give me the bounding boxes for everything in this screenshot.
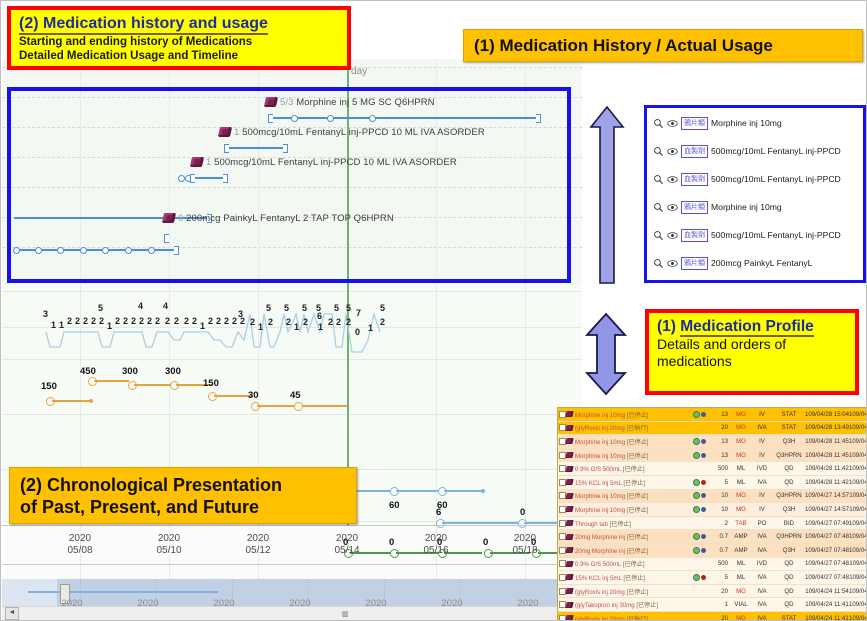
gantt-bar[interactable] [192, 177, 225, 179]
table-row[interactable]: 20mg Morphine inj [已停止]0.7AMPIVAQ3HPRN10… [558, 530, 866, 544]
end-datetime-cell: 109/04/29 14:56 [849, 533, 867, 540]
med-status-zh: [已停止] [623, 480, 645, 487]
qty-cell: 20 [709, 424, 731, 431]
annotation-heading: (1) Medication History / Actual Usage [474, 36, 773, 56]
annotation-line1: (2) Chronological Presentation [20, 474, 356, 496]
unit-cell: MG [731, 588, 751, 595]
gantt-node[interactable] [57, 247, 64, 254]
grid-line [2, 291, 582, 292]
qty-cell: 500 [709, 560, 731, 567]
grid-line [2, 414, 582, 415]
med-name-cell: Morphine inj 10mg [已停止] [575, 437, 693, 446]
scroll-left-button[interactable]: ◄ [5, 607, 19, 620]
med-name-cell: (glyRoxis inj 20mg [已執行] [575, 423, 693, 432]
annotation-medication-history: (2) Medication history and usage Startin… [7, 6, 351, 70]
pill-glyph [565, 520, 573, 526]
eye-icon[interactable] [667, 118, 678, 129]
green-status-dot [693, 533, 700, 540]
medication-list-panel[interactable]: 鴉片類 Morphine inj 10mg 血製劑 500mcg/10mL Fe… [644, 105, 866, 283]
gantt-bar-end-cap [283, 144, 288, 153]
checkbox[interactable] [559, 615, 566, 621]
pill-glyph [565, 615, 573, 621]
qty-cell: 20 [709, 588, 731, 595]
med-status-zh: [已停止] [626, 589, 648, 596]
red-status-dot [701, 480, 706, 485]
unit-cell: MG [731, 492, 751, 499]
series-value: 60 [389, 500, 400, 511]
route-cell: IVA [751, 533, 773, 540]
start-datetime-cell: 109/04/27 07:48 [805, 560, 849, 567]
pill-glyph [565, 602, 573, 608]
search-icon[interactable] [653, 230, 664, 241]
date-tick-year: 2020 [50, 533, 110, 545]
med-name: 500mcg/10mL FentanyL inj-PPCD [711, 174, 841, 184]
start-datetime-cell: 109/04/24 11:54 [805, 588, 849, 595]
freq-cell: Q3H [773, 547, 805, 554]
pill-glyph [565, 506, 573, 512]
route-cell: IVA [751, 479, 773, 486]
range-preview-line [28, 591, 218, 593]
freq-cell: STAT [773, 411, 805, 418]
qty-cell: 20 [709, 615, 731, 621]
status-dots [693, 411, 709, 418]
gantt-node[interactable] [148, 247, 155, 254]
qty-cell: 0.7 [709, 547, 731, 554]
qty-cell: 5 [709, 479, 731, 486]
end-datetime-cell: 109/04/28 14:15 [849, 424, 867, 431]
gantt-label: 1 500mcg/10mL FentanyL inj-PPCD 10 ML IV… [206, 157, 457, 168]
gantt-bar-start-cap [164, 234, 169, 243]
freq-cell: Q3HPRN [773, 452, 805, 459]
route-cell: IV [751, 506, 773, 513]
search-icon[interactable] [653, 146, 664, 157]
start-datetime-cell: 109/04/28 11:42 [805, 479, 849, 486]
med-name-cell: (glyRoxis inj 20mg [已停止] [575, 587, 693, 596]
gantt-node[interactable] [327, 115, 334, 122]
gantt-node[interactable] [291, 115, 298, 122]
med-list-item[interactable]: 鴉片類 Morphine inj 10mg [653, 196, 782, 218]
series-bar [396, 490, 438, 492]
unit-cell: MG [731, 452, 751, 459]
end-datetime-cell: 109/04/27 14:57 [849, 547, 867, 554]
qty-cell: 5 [709, 574, 731, 581]
date-tick-day: 05/16 [406, 545, 466, 557]
table-row[interactable]: Morphine inj 10mg [已停止]13MGIVQ3HPRN109/0… [558, 449, 866, 463]
table-row[interactable]: 15% KCL inj 5mL [已停止]5MLIVAQD109/04/28 1… [558, 476, 866, 490]
med-name-cell: Morphine inj 10mg [已停止] [575, 491, 693, 500]
route-cell: IV [751, 438, 773, 445]
annotation-line1: Starting and ending history of Medicatio… [19, 35, 339, 49]
annotation-line2: Detailed Medication Usage and Timeline [19, 49, 339, 63]
medication-pill-icon [218, 127, 232, 137]
date-tick-year: 2020 [495, 533, 555, 545]
med-name-cell: Morphine inj 10mg [已停止] [575, 505, 693, 514]
med-list-item[interactable]: 鴉片類 Morphine inj 10mg [653, 112, 782, 134]
pill-glyph [565, 452, 573, 458]
gantt-node[interactable] [80, 247, 87, 254]
medication-pill-icon [566, 561, 575, 567]
route-cell: IV [751, 411, 773, 418]
med-status-zh: [已停止] [623, 561, 645, 568]
med-status-zh: [已停止] [627, 439, 649, 446]
med-status-zh: [已執行] [626, 425, 648, 432]
search-icon[interactable] [653, 174, 664, 185]
start-datetime-cell: 109/04/27 07:48 [805, 547, 849, 554]
blue-status-dot [701, 493, 706, 498]
today-label: day [351, 66, 367, 77]
med-name: 20mg Morphine inj [575, 534, 627, 541]
eye-icon[interactable] [667, 202, 678, 213]
route-cell: IVD [751, 465, 773, 472]
annotation-actual-usage: (1) Medication History / Actual Usage [463, 29, 863, 62]
medication-pill-icon [566, 588, 575, 594]
end-datetime-cell: 109/04/29 16:54 [849, 520, 867, 527]
series-value: 0 [520, 507, 525, 518]
date-tick-day: 05/18 [495, 545, 555, 557]
gantt-node[interactable] [13, 247, 20, 254]
row-checkbox[interactable] [558, 615, 566, 621]
arrow-up-down-icon [583, 311, 629, 397]
med-status-zh: [已停止] [627, 548, 649, 555]
checkbox[interactable] [559, 411, 566, 418]
medication-pill-icon [566, 438, 575, 444]
annotation-line1: Details and orders of [657, 336, 847, 353]
medication-pill-icon [566, 479, 575, 485]
med-name: Morphine inj 10mg [711, 118, 782, 128]
dose-bar [214, 395, 252, 397]
blue-status-dot [701, 453, 706, 458]
med-list-item[interactable]: 血製劑 500mcg/10mL FentanyL inj-PPCD [653, 224, 841, 246]
medication-pill-icon [566, 615, 575, 621]
unit-cell: ML [731, 560, 751, 567]
med-name-cell: Morphine inj 10mg [已停止] [575, 410, 693, 419]
medication-pill-icon [566, 574, 575, 580]
freq-cell: QD [773, 601, 805, 608]
table-row[interactable]: Morphine inj 10mg [已停止]13MGIVSTAT109/04/… [558, 408, 866, 422]
search-icon[interactable] [653, 258, 664, 269]
gantt-bar[interactable] [270, 117, 540, 119]
date-tick-year: 2020 [228, 533, 288, 545]
pill-glyph [565, 561, 573, 567]
search-icon[interactable] [653, 118, 664, 129]
gantt-bar[interactable] [228, 147, 285, 149]
med-name-cell: (glyTakopron inj 30mg [已停止] [575, 600, 693, 609]
gantt-label: 5/3 Morphine inj 5 MG SC Q6HPRN [280, 97, 435, 108]
unit-cell: MG [731, 424, 751, 431]
freq-cell: QD [773, 574, 805, 581]
unit-cell: AMP [731, 533, 751, 540]
end-datetime-cell: 109/04/24 18:00 [849, 588, 867, 595]
gantt-bar-end-cap [536, 114, 541, 123]
gantt-label-text: Morphine inj 5 MG SC Q6HPRN [296, 97, 434, 108]
med-category-badge: 血製劑 [681, 145, 708, 158]
start-datetime-cell: 109/04/28 11:42 [805, 465, 849, 472]
med-name-cell: 15% KCL inj 5mL [已停止] [575, 573, 693, 582]
gantt-node[interactable] [125, 247, 132, 254]
annotation-heading-text: Medication Profile [680, 318, 814, 337]
checkbox[interactable] [559, 547, 566, 554]
route-cell: IVA [751, 424, 773, 431]
status-dots [693, 492, 709, 499]
medication-pill-icon [566, 452, 575, 458]
freq-cell: Q3H [773, 438, 805, 445]
unit-cell: ML [731, 465, 751, 472]
med-status-zh: [已停止] [627, 507, 649, 514]
start-datetime-cell: 109/04/28 11:45 [805, 452, 849, 459]
date-axis: 2020 05/08 2020 05/10 2020 05/12 2020 05… [2, 525, 582, 565]
start-datetime-cell: 109/04/27 07:48 [805, 533, 849, 540]
eye-icon[interactable] [667, 230, 678, 241]
gantt-label-prefix: 1 [234, 127, 239, 138]
gantt-bar-end-cap [174, 246, 179, 255]
qty-cell: 13 [709, 452, 731, 459]
date-tick: 2020 05/10 [139, 533, 199, 557]
unit-cell: VIAL [731, 601, 751, 608]
gantt-node[interactable] [102, 247, 109, 254]
dose-value: 45 [290, 390, 301, 401]
grid-line [2, 247, 582, 248]
medication-pill-icon [566, 534, 575, 540]
med-name: Morphine inj 10mg [575, 439, 627, 446]
end-datetime-cell: 109/04/28 12:31 [849, 438, 867, 445]
med-status-zh: [已停止] [623, 466, 645, 473]
table-row[interactable]: Through tab [已停止]2TABPOBID109/04/27 07:4… [558, 517, 866, 531]
status-dots [693, 547, 709, 554]
pain-score-sparkline [2, 302, 582, 372]
medication-pill-icon [162, 213, 176, 223]
date-tick: 2020 05/12 [228, 533, 288, 557]
gantt-label-prefix: 5/3 [280, 97, 294, 108]
unit-cell: TAB [731, 520, 751, 527]
checkbox[interactable] [559, 438, 566, 445]
blue-status-dot [701, 507, 706, 512]
table-row[interactable]: 15% KCL inj 5mL [已停止]5MLIVAQD109/04/27 0… [558, 571, 866, 585]
gantt-node[interactable] [369, 115, 376, 122]
med-name: 15% KCL inj 5mL [575, 480, 623, 487]
eye-icon[interactable] [667, 146, 678, 157]
medication-pill-icon [264, 97, 278, 107]
med-name: 200mcg PainkyL FentanyL [711, 258, 812, 268]
pill-glyph [565, 411, 573, 417]
med-name-cell: 0.9% G/S 500mL [已停止] [575, 559, 693, 568]
gantt-bar-start-cap [224, 144, 229, 153]
start-datetime-cell: 109/04/28 15:04 [805, 411, 849, 418]
date-tick: 2020 05/18 [495, 533, 555, 557]
table-row[interactable]: (glyRoxis inj 20mg [已停止]20MGIVAQD109/04/… [558, 585, 866, 599]
medication-pill-icon [566, 425, 575, 431]
medication-pill-icon [566, 466, 575, 472]
med-status-zh: [已停止] [627, 453, 649, 460]
dose-value: 150 [203, 378, 219, 389]
dose-bar [134, 384, 172, 386]
scrollbar-track[interactable] [2, 606, 582, 621]
med-name-cell: (glyRoxis inj 20mg [已執行] [575, 614, 693, 621]
med-name: (glyRoxis inj 20mg [575, 616, 626, 621]
med-status-zh: [已停止] [623, 575, 645, 582]
medication-detail-table[interactable]: Morphine inj 10mg [已停止]13MGIVSTAT109/04/… [557, 407, 867, 621]
med-list-item[interactable]: 血製劑 500mcg/10mL FentanyL inj-PPCD [653, 140, 841, 162]
blue-status-dot [701, 548, 706, 553]
date-tick-day: 05/14 [317, 545, 377, 557]
green-status-dot [693, 547, 700, 554]
qty-cell: 13 [709, 438, 731, 445]
freq-cell: STAT [773, 615, 805, 621]
qty-cell: 1 [709, 601, 731, 608]
start-datetime-cell: 109/04/27 07:49 [805, 520, 849, 527]
med-name-cell: 20mg Morphine inj [已停止] [575, 546, 693, 555]
end-datetime-cell: 109/04/28 11:45 [849, 506, 867, 513]
eye-icon[interactable] [667, 258, 678, 269]
table-row[interactable]: 20mg Morphine inj [已停止]0.7AMPIVAQ3H109/0… [558, 544, 866, 558]
app-window: day 5/3 Morphine inj 5 MG SC Q6HPRN 1 50… [0, 0, 867, 621]
med-name: Through tab [575, 521, 610, 528]
gantt-node[interactable] [35, 247, 42, 254]
green-status-dot [693, 452, 700, 459]
route-cell: PO [751, 520, 773, 527]
table-row[interactable]: 0.9% G/S 500mL [已停止]500MLIVDQD109/04/28 … [558, 462, 866, 476]
dose-value: 450 [80, 366, 96, 377]
annotation-heading: (2) Medication history and usage [19, 14, 268, 35]
search-icon[interactable] [653, 202, 664, 213]
pill-glyph [565, 547, 573, 553]
status-dots [693, 506, 709, 513]
gantt-bar-start-cap [190, 174, 195, 183]
gantt-label-prefix: 0 [178, 213, 183, 224]
green-status-dot [693, 411, 700, 418]
dose-node[interactable] [294, 402, 303, 411]
end-datetime-cell: 109/04/28 11:42 [849, 574, 867, 581]
table-row[interactable]: 0.9% G/S 500mL [已停止]500MLIVDQD109/04/27 … [558, 558, 866, 572]
freq-cell: Q3HPRN [773, 533, 805, 540]
date-tick-year: 2020 [139, 533, 199, 545]
table-row[interactable]: Morphine inj 10mg [已停止]13MGIVQ3H109/04/2… [558, 435, 866, 449]
qty-cell: 10 [709, 492, 731, 499]
gantt-label-text: 200mcg PainkyL FentanyL 2 TAP TOP Q6HPRN [186, 213, 394, 224]
med-list-item[interactable]: 血製劑 500mcg/10mL FentanyL inj-PPCD [653, 168, 841, 190]
blue-status-dot [701, 534, 706, 539]
unit-cell: ML [731, 574, 751, 581]
dose-endpoint [89, 399, 93, 403]
start-datetime-cell: 109/04/24 11:41 [805, 601, 849, 608]
medication-pill-icon [566, 520, 575, 526]
green-status-dot [693, 479, 700, 486]
start-datetime-cell: 109/04/24 11:41 [805, 615, 849, 621]
route-cell: IVD [751, 560, 773, 567]
gantt-label: 0 200mcg PainkyL FentanyL 2 TAP TOP Q6HP… [178, 213, 394, 224]
route-cell: IV [751, 492, 773, 499]
med-list-item[interactable]: 鴉片類 200mcg PainkyL FentanyL [653, 252, 812, 274]
med-name: 0.9% G/S 500mL [575, 561, 623, 568]
end-datetime-cell: 109/04/30 09:20 [849, 479, 867, 486]
med-category-badge: 鴉片類 [681, 117, 708, 130]
med-status-zh: [已停止] [627, 412, 649, 419]
unit-cell: MG [731, 411, 751, 418]
checkbox[interactable] [559, 479, 566, 486]
series-bar [444, 490, 482, 492]
green-status-dot [693, 492, 700, 499]
gantt-label-prefix: 1 [206, 157, 211, 168]
route-cell: IVA [751, 615, 773, 621]
route-cell: IVA [751, 601, 773, 608]
eye-icon[interactable] [667, 174, 678, 185]
green-status-dot [693, 506, 700, 513]
freq-cell: QD [773, 588, 805, 595]
med-status-zh: [已停止] [636, 602, 658, 609]
end-datetime-cell: 109/04/28 11:45 [849, 492, 867, 499]
status-dots [693, 479, 709, 486]
date-tick-day: 05/08 [50, 545, 110, 557]
unit-cell: MG [731, 506, 751, 513]
dose-value: 30 [248, 390, 259, 401]
table-row[interactable]: (glyRoxis inj 20mg [已執行]20MGIVASTAT109/0… [558, 612, 866, 621]
timeline-range-selector[interactable]: 2020 05/06 2020 05/08 2020 05/10 2020 05… [2, 579, 582, 621]
end-datetime-cell: 109/04/28 12:31 [849, 452, 867, 459]
unit-cell: MG [731, 615, 751, 621]
checkbox[interactable] [559, 506, 566, 513]
med-name: Morphine inj 10mg [575, 453, 627, 460]
medication-pill-icon [190, 157, 204, 167]
series-value: 6 [436, 507, 441, 518]
annotation-line2: medications [657, 353, 847, 370]
annotation-line2: of Past, Present, and Future [20, 496, 356, 518]
gantt-label: 1 500mcg/10mL FentanyL inj-PPCD 10 ML IV… [234, 127, 485, 138]
checkbox[interactable] [559, 574, 566, 581]
pill-glyph [565, 466, 573, 472]
axis-rule [2, 525, 582, 526]
unit-cell: AMP [731, 547, 751, 554]
status-dots [693, 452, 709, 459]
unit-cell: ML [731, 479, 751, 486]
freq-cell: Q3HPRN [773, 492, 805, 499]
freq-cell: QD [773, 479, 805, 486]
freq-cell: QD [773, 465, 805, 472]
freq-cell: Q3H [773, 506, 805, 513]
medication-pill-icon [566, 547, 575, 553]
table-row[interactable]: (glyRoxis inj 20mg [已執行]20MGIVASTAT109/0… [558, 422, 866, 436]
blue-status-dot [701, 439, 706, 444]
dose-bar [94, 380, 129, 382]
medication-pill-icon [566, 602, 575, 608]
med-name-cell: 15% KCL inj 5mL [已停止] [575, 478, 693, 487]
pill-glyph [565, 534, 573, 540]
arrow-up-icon [587, 105, 627, 287]
med-name: Morphine inj 10mg [575, 493, 627, 500]
grid-line [2, 187, 582, 188]
qty-cell: 10 [709, 506, 731, 513]
end-datetime-cell: 109/04/30 09:20 [849, 601, 867, 608]
table-row[interactable]: (glyTakopron inj 30mg [已停止]1VIALIVAQD109… [558, 598, 866, 612]
freq-cell: QD [773, 560, 805, 567]
med-category-badge: 血製劑 [681, 229, 708, 242]
medication-pill-icon [566, 411, 575, 417]
qty-cell: 2 [709, 520, 731, 527]
green-status-dot [693, 574, 700, 581]
pill-glyph [565, 425, 573, 431]
medication-pill-icon [566, 493, 575, 499]
med-name-cell: Morphine inj 10mg [已停止] [575, 451, 693, 460]
gantt-bar-start-cap [268, 114, 273, 123]
gantt-node[interactable] [178, 175, 185, 182]
red-status-dot [701, 575, 706, 580]
med-name: 500mcg/10mL FentanyL inj-PPCD [711, 146, 841, 156]
dose-bar [52, 400, 90, 402]
table-row[interactable]: Morphine inj 10mg [已停止]10MGIVQ3H109/04/2… [558, 503, 866, 517]
pill-glyph [565, 493, 573, 499]
annotation-medication-profile: (1) Medication Profile Details and order… [645, 309, 859, 395]
date-tick-day: 05/10 [139, 545, 199, 557]
route-cell: IVA [751, 574, 773, 581]
table-row[interactable]: Morphine inj 10mg [已停止]10MGIVQ3HPRN109/0… [558, 490, 866, 504]
